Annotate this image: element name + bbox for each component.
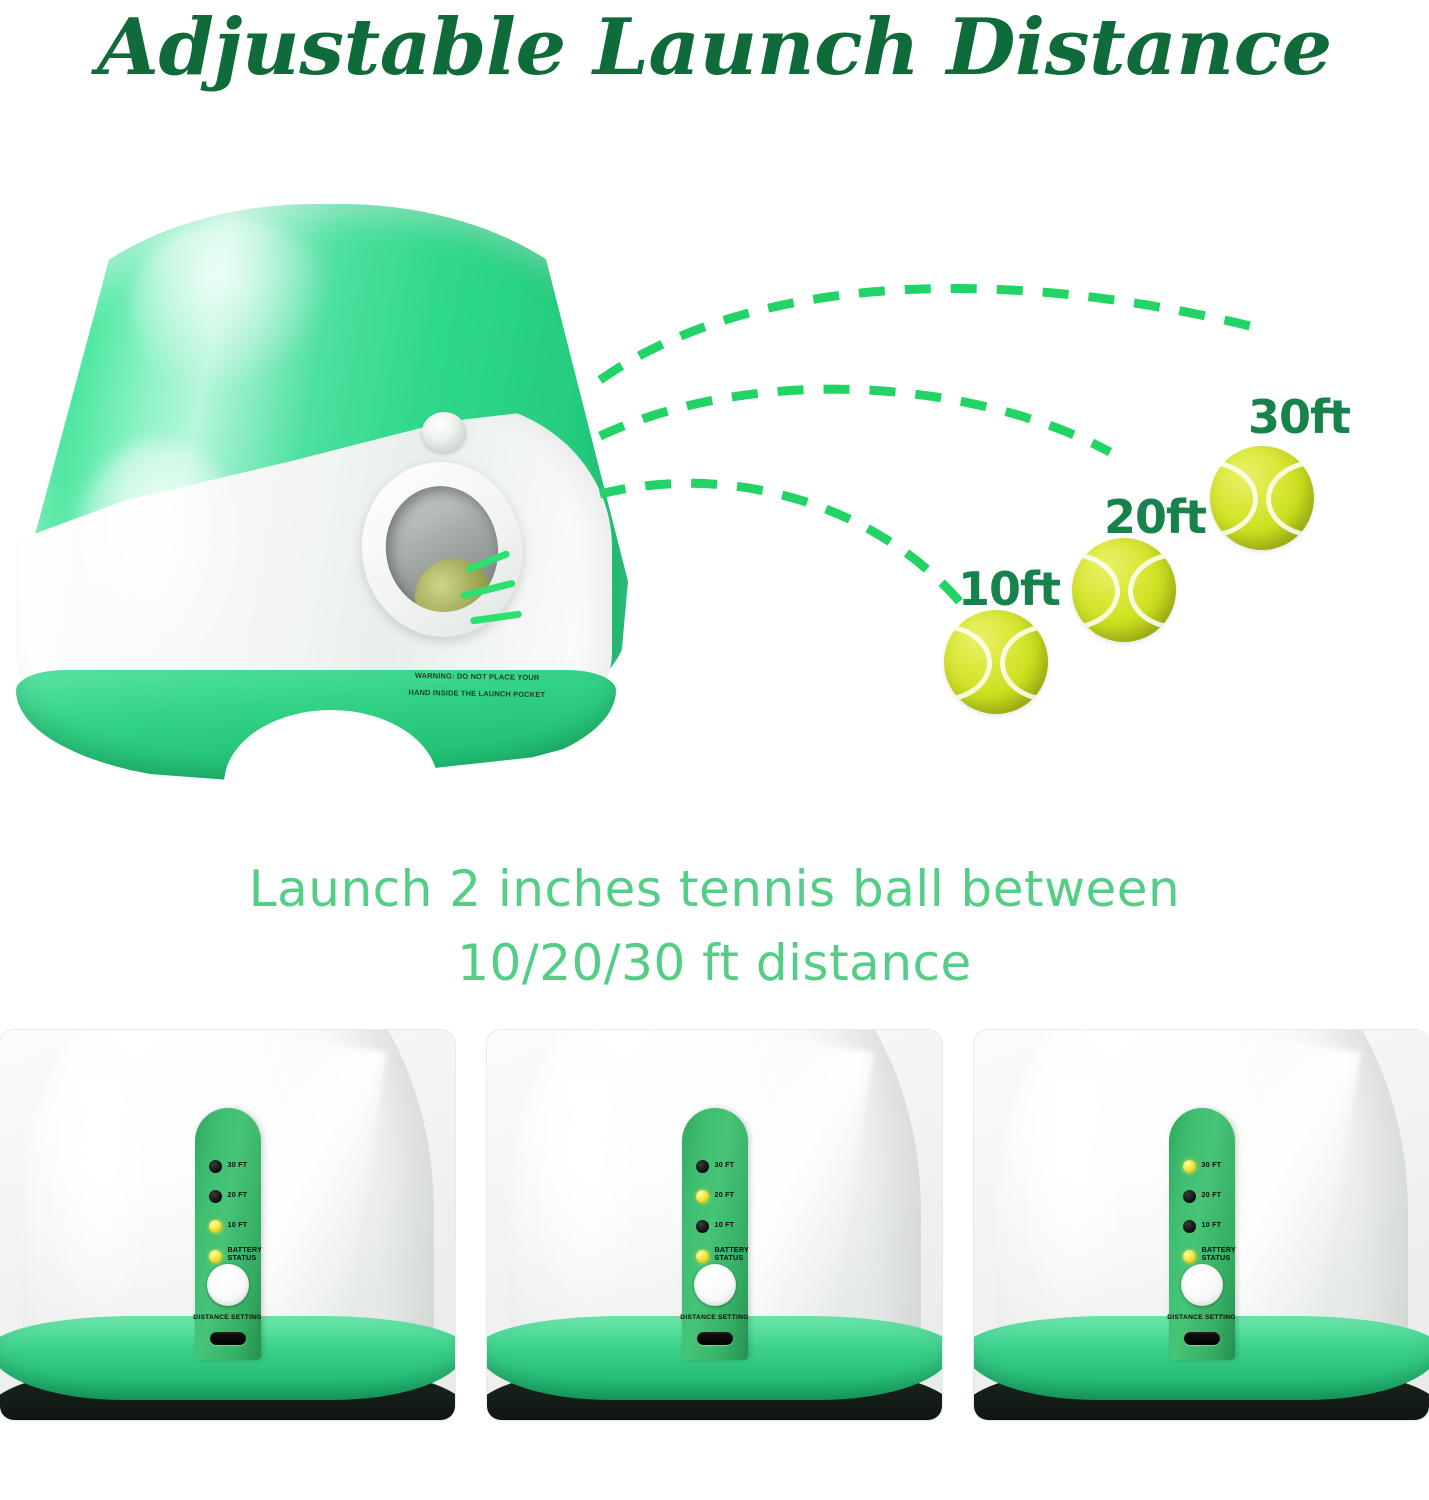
led-label-10ft: 10 FT	[228, 1221, 248, 1229]
distance-label-30ft: 30ft	[1248, 390, 1350, 444]
tennis-ball-10ft	[944, 610, 1048, 714]
distance-label-10ft: 10ft	[958, 562, 1060, 616]
pocket-interior	[378, 479, 506, 619]
trajectory-10ft	[600, 483, 960, 602]
led-10ft	[696, 1220, 709, 1233]
led-label-battery: BATTERY STATUS	[715, 1246, 750, 1262]
usb-c-port-icon	[210, 1332, 246, 1345]
led-10ft	[1183, 1220, 1196, 1233]
sensor-dome-icon	[422, 412, 466, 452]
led-label-30ft: 30 FT	[715, 1161, 735, 1169]
closeup-highlight	[40, 1070, 160, 1330]
closeup-highlight	[527, 1070, 647, 1330]
distance-label-20ft: 20ft	[1104, 490, 1206, 544]
distance-setting-button[interactable]	[207, 1264, 249, 1306]
product-feature-page: Adjustable Launch Distance WARNING: DO N…	[0, 0, 1429, 1500]
led-30ft	[209, 1160, 222, 1173]
usb-c-port-icon	[1184, 1332, 1220, 1345]
led-label-30ft: 30 FT	[1202, 1161, 1222, 1169]
control-strip[interactable]: 30 FT 20 FT 10 FT BATTERY STATUS DISTANC…	[682, 1108, 748, 1360]
tennis-ball-20ft	[1072, 538, 1176, 642]
subtitle-line-1: Launch 2 inches tennis ball between	[0, 852, 1429, 926]
led-label-10ft: 10 FT	[715, 1221, 735, 1229]
distance-setting-label: DISTANCE SETTING	[680, 1314, 748, 1321]
led-label-20ft: 20 FT	[228, 1191, 248, 1199]
usb-c-port-icon	[697, 1332, 733, 1345]
control-strip[interactable]: 30 FT 20 FT 10 FT BATTERY STATUS DISTANC…	[195, 1108, 261, 1360]
led-label-20ft: 20 FT	[715, 1191, 735, 1199]
led-battery-status	[696, 1250, 709, 1263]
page-title: Adjustable Launch Distance	[0, 2, 1429, 93]
led-label-20ft: 20 FT	[1202, 1191, 1222, 1199]
led-label-battery: BATTERY STATUS	[228, 1246, 263, 1262]
led-20ft	[696, 1190, 709, 1203]
distance-setting-button[interactable]	[694, 1264, 736, 1306]
led-battery-status	[1183, 1250, 1196, 1263]
led-10ft	[209, 1220, 222, 1233]
subtitle: Launch 2 inches tennis ball between 10/2…	[0, 852, 1429, 1000]
ball-launcher-device: WARNING: DO NOT PLACE YOUR HAND INSIDE T…	[10, 190, 650, 810]
control-panel-gallery: 30 FT 20 FT 10 FT BATTERY STATUS DISTANC…	[0, 1030, 1429, 1500]
closeup-highlight	[1014, 1070, 1134, 1330]
led-label-30ft: 30 FT	[228, 1161, 248, 1169]
distance-setting-button[interactable]	[1181, 1264, 1223, 1306]
distance-setting-label: DISTANCE SETTING	[1167, 1314, 1235, 1321]
led-label-battery: BATTERY STATUS	[1202, 1246, 1237, 1262]
trajectory-30ft	[600, 288, 1250, 380]
led-30ft	[1183, 1160, 1196, 1173]
distance-setting-label: DISTANCE SETTING	[193, 1314, 261, 1321]
panel-30ft[interactable]: 30 FT 20 FT 10 FT BATTERY STATUS DISTANC…	[974, 1030, 1429, 1420]
led-label-10ft: 10 FT	[1202, 1221, 1222, 1229]
led-20ft	[1183, 1190, 1196, 1203]
tennis-ball-30ft	[1210, 446, 1314, 550]
device-highlight	[130, 220, 340, 400]
hero-illustration: WARNING: DO NOT PLACE YOUR HAND INSIDE T…	[0, 150, 1429, 830]
led-30ft	[696, 1160, 709, 1173]
led-battery-status	[209, 1250, 222, 1263]
subtitle-line-2: 10/20/30 ft distance	[0, 926, 1429, 1000]
panel-20ft[interactable]: 30 FT 20 FT 10 FT BATTERY STATUS DISTANC…	[487, 1030, 942, 1420]
trajectory-20ft	[600, 389, 1110, 452]
warning-label: WARNING: DO NOT PLACE YOUR HAND INSIDE T…	[402, 667, 553, 704]
panel-10ft[interactable]: 30 FT 20 FT 10 FT BATTERY STATUS DISTANC…	[0, 1030, 455, 1420]
device-highlight-lower	[70, 440, 250, 690]
control-strip[interactable]: 30 FT 20 FT 10 FT BATTERY STATUS DISTANC…	[1169, 1108, 1235, 1360]
led-20ft	[209, 1190, 222, 1203]
